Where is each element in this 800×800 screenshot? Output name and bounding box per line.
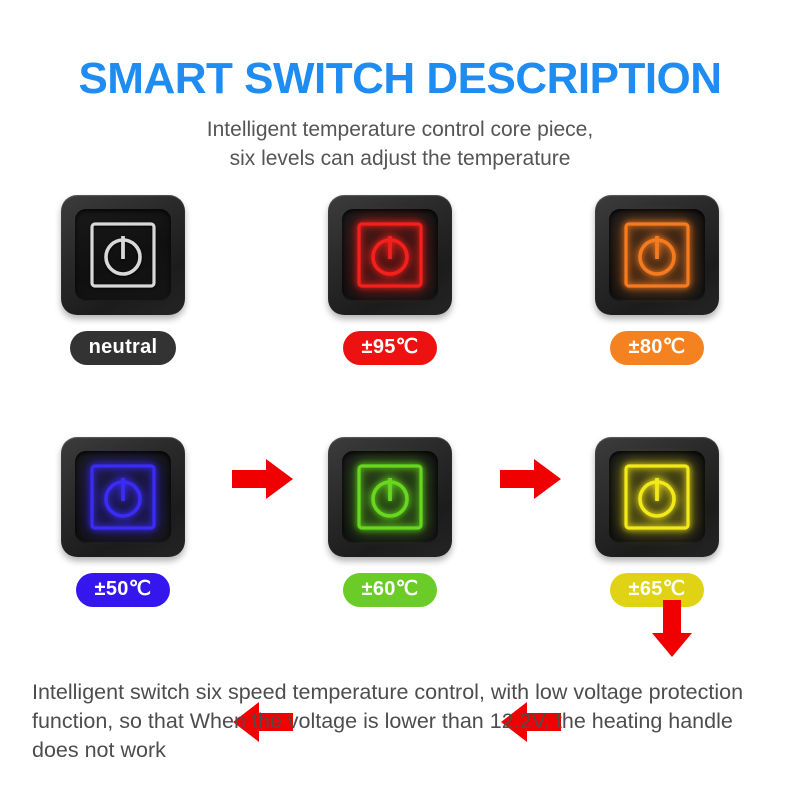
switch-cell-65c: ±65℃ bbox=[562, 437, 752, 607]
page-subtitle: Intelligent temperature control core pie… bbox=[0, 116, 800, 173]
power-icon bbox=[355, 220, 425, 290]
switch-label-60c: ±60℃ bbox=[343, 573, 438, 607]
switch-label-50c: ±50℃ bbox=[76, 573, 171, 607]
switch-face-95c bbox=[342, 209, 438, 301]
subtitle-line-2: six levels can adjust the temperature bbox=[0, 145, 800, 173]
subtitle-line-1: Intelligent temperature control core pie… bbox=[0, 116, 800, 144]
switch-face-60c bbox=[342, 451, 438, 543]
switch-face-65c bbox=[609, 451, 705, 543]
switch-face-80c bbox=[609, 209, 705, 301]
switch-label-95c: ±95℃ bbox=[343, 331, 438, 365]
arrow-95c-to-80c bbox=[500, 457, 562, 501]
switch-button-60c[interactable] bbox=[328, 437, 452, 557]
switch-cell-80c: ±80℃ bbox=[562, 195, 752, 365]
arrow-80c-to-65c bbox=[650, 600, 694, 658]
switch-label-80c: ±80℃ bbox=[610, 331, 705, 365]
page-title: SMART SWITCH DESCRIPTION bbox=[0, 56, 800, 102]
power-icon bbox=[88, 462, 158, 532]
switch-cell-50c: ±50℃ bbox=[28, 437, 218, 607]
switch-cell-neutral: neutral bbox=[28, 195, 218, 365]
switch-button-95c[interactable] bbox=[328, 195, 452, 315]
switch-label-neutral: neutral bbox=[70, 331, 177, 365]
power-icon bbox=[622, 220, 692, 290]
switch-flow-diagram: neutral ±95℃ ±80℃ bbox=[0, 195, 800, 655]
switch-face-50c bbox=[75, 451, 171, 543]
switch-face-neutral bbox=[75, 209, 171, 301]
arrow-neutral-to-95c bbox=[232, 457, 294, 501]
power-icon bbox=[355, 462, 425, 532]
power-icon bbox=[88, 220, 158, 290]
switch-button-50c[interactable] bbox=[61, 437, 185, 557]
switch-cell-60c: ±60℃ bbox=[295, 437, 485, 607]
switch-button-80c[interactable] bbox=[595, 195, 719, 315]
switch-button-65c[interactable] bbox=[595, 437, 719, 557]
header: SMART SWITCH DESCRIPTION Intelligent tem… bbox=[0, 0, 800, 173]
footer-caption: Intelligent switch six speed temperature… bbox=[32, 678, 774, 765]
switch-button-neutral[interactable] bbox=[61, 195, 185, 315]
switch-cell-95c: ±95℃ bbox=[295, 195, 485, 365]
power-icon bbox=[622, 462, 692, 532]
